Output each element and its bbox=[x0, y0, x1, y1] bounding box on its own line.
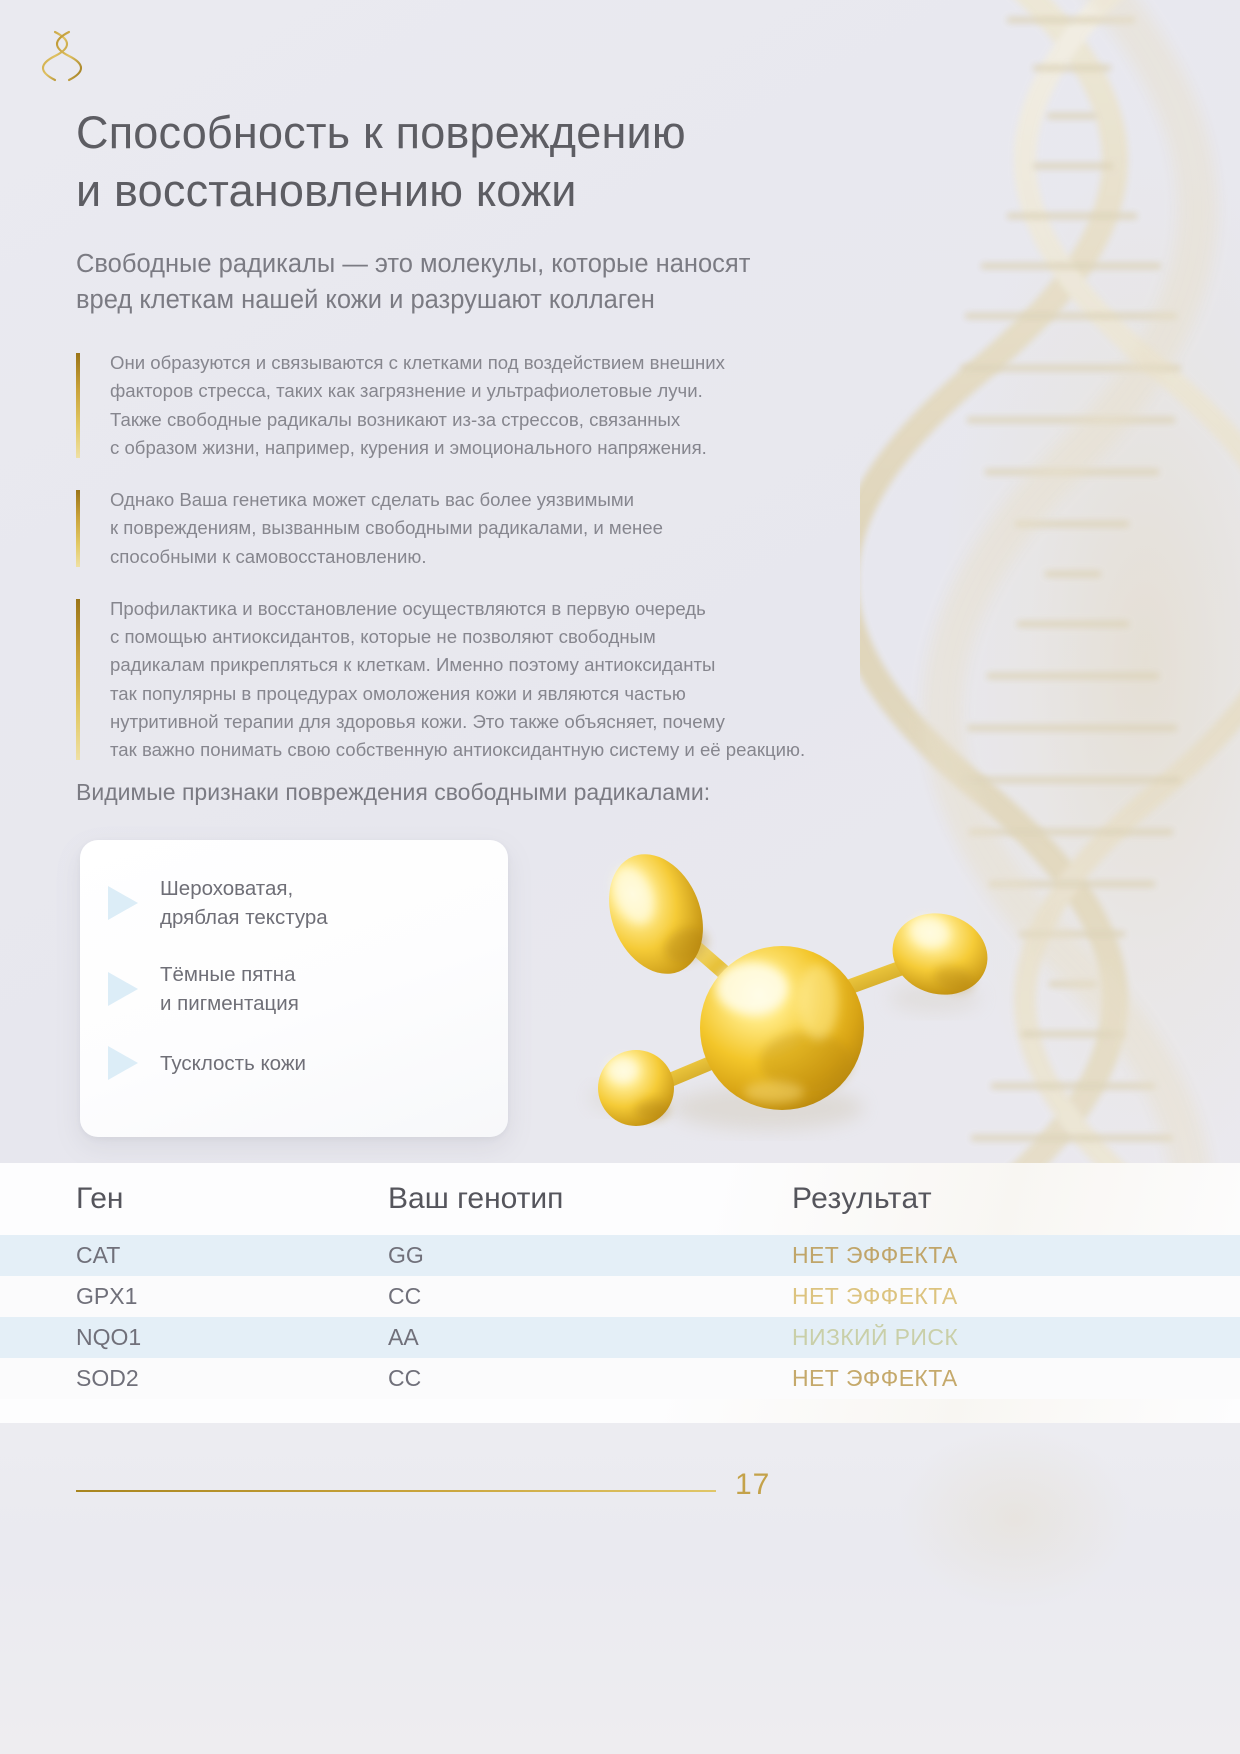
page-title: Способность к повреждению и восстановлен… bbox=[76, 104, 976, 219]
paragraph-list: Они образуются и связываются с клетками … bbox=[76, 349, 946, 764]
column-header-genotype: Ваш генотип bbox=[388, 1182, 792, 1216]
cell-gene: CAT bbox=[76, 1242, 388, 1269]
list-item-label: Шероховатая, дряблая текстура bbox=[160, 874, 328, 932]
dna-helix-logo-icon bbox=[40, 26, 84, 86]
paragraph-text: Однако Ваша генетика может сделать вас б… bbox=[110, 486, 946, 571]
visible-signs-card: Шероховатая, дряблая текстура Тёмные пят… bbox=[80, 840, 508, 1137]
table-row: CAT GG НЕТ ЭФФЕКТА bbox=[0, 1235, 1240, 1276]
cell-result: НИЗКИЙ РИСК bbox=[792, 1324, 1240, 1351]
column-header-result: Результат bbox=[792, 1182, 1240, 1216]
report-page: Способность к повреждению и восстановлен… bbox=[0, 0, 1240, 1754]
cell-gene: NQO1 bbox=[76, 1324, 388, 1351]
cell-gene: SOD2 bbox=[76, 1365, 388, 1392]
paragraph-block: Профилактика и восстановление осуществля… bbox=[76, 595, 946, 765]
cell-genotype: CC bbox=[388, 1365, 792, 1392]
gold-accent-bar bbox=[76, 599, 80, 761]
table-row: SOD2 CC НЕТ ЭФФЕКТА bbox=[0, 1358, 1240, 1399]
cell-genotype: AA bbox=[388, 1324, 792, 1351]
gold-molecule-illustration bbox=[560, 830, 1030, 1160]
footer-band bbox=[0, 1423, 1240, 1754]
table-row: NQO1 AA НИЗКИЙ РИСК bbox=[0, 1317, 1240, 1358]
list-item: Шероховатая, дряблая текстура bbox=[108, 874, 490, 932]
footer-background-wash bbox=[850, 1423, 1180, 1643]
cell-gene: GPX1 bbox=[76, 1283, 388, 1310]
paragraph-text: Профилактика и восстановление осуществля… bbox=[110, 595, 946, 765]
visible-signs-heading: Видимые признаки повреждения свободными … bbox=[76, 779, 976, 806]
table-row: GPX1 CC НЕТ ЭФФЕКТА bbox=[0, 1276, 1240, 1317]
list-item: Тусклость кожи bbox=[108, 1046, 490, 1080]
gold-accent-bar bbox=[76, 490, 80, 567]
list-item: Тёмные пятна и пигментация bbox=[108, 960, 490, 1018]
page-number: 17 bbox=[735, 1468, 770, 1502]
paragraph-block: Однако Ваша генетика может сделать вас б… bbox=[76, 486, 946, 571]
triangle-bullet-icon bbox=[108, 1046, 138, 1080]
cell-genotype: GG bbox=[388, 1242, 792, 1269]
cell-result: НЕТ ЭФФЕКТА bbox=[792, 1242, 1240, 1269]
gold-accent-bar bbox=[76, 353, 80, 458]
page-subtitle: Свободные радикалы — это молекулы, котор… bbox=[76, 246, 956, 318]
triangle-bullet-icon bbox=[108, 886, 138, 920]
cell-genotype: CC bbox=[388, 1283, 792, 1310]
cell-result: НЕТ ЭФФЕКТА bbox=[792, 1365, 1240, 1392]
visible-signs-list: Шероховатая, дряблая текстура Тёмные пят… bbox=[108, 874, 490, 1080]
paragraph-text: Они образуются и связываются с клетками … bbox=[110, 349, 946, 462]
paragraph-block: Они образуются и связываются с клетками … bbox=[76, 349, 946, 462]
list-item-label: Тёмные пятна и пигментация bbox=[160, 960, 299, 1018]
column-header-gene: Ген bbox=[76, 1182, 388, 1216]
genotype-results-table: Ген Ваш генотип Результат CAT GG НЕТ ЭФФ… bbox=[0, 1163, 1240, 1423]
triangle-bullet-icon bbox=[108, 972, 138, 1006]
list-item-label: Тусклость кожи bbox=[160, 1049, 306, 1078]
cell-result: НЕТ ЭФФЕКТА bbox=[792, 1283, 1240, 1310]
footer-divider bbox=[76, 1490, 716, 1492]
table-header-row: Ген Ваш генотип Результат bbox=[0, 1163, 1240, 1235]
